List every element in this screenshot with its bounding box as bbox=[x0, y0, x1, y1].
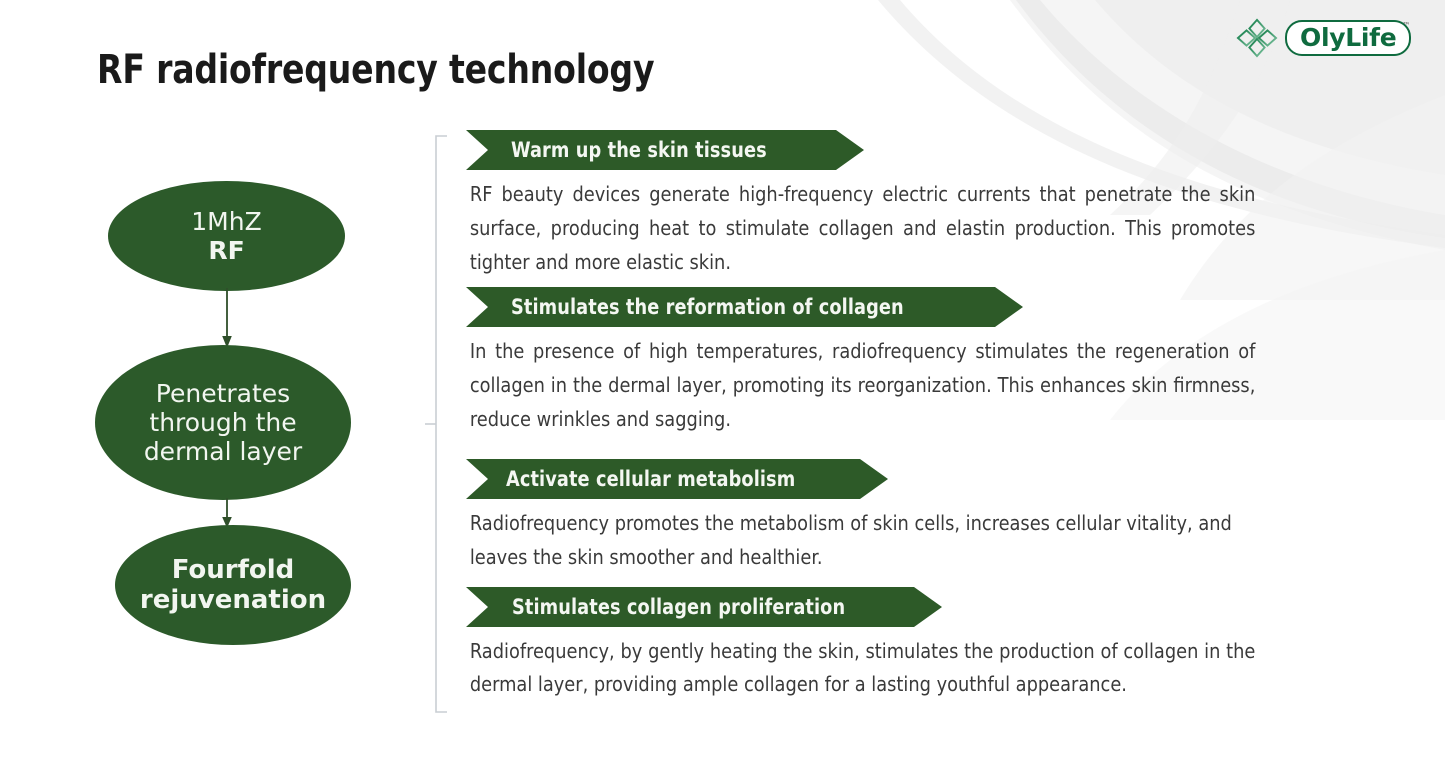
section-body-text: Radiofrequency promotes the metabolism o… bbox=[466, 503, 1255, 575]
section-reformation-collagen: Stimulates the reformation of collagen I… bbox=[466, 287, 1284, 436]
section-banner: Stimulates collagen proliferation bbox=[466, 587, 1284, 627]
section-banner: Warm up the skin tissues bbox=[466, 130, 1284, 170]
down-arrow-icon bbox=[220, 288, 234, 350]
section-body-text: In the presence of high temperatures, ra… bbox=[466, 331, 1255, 436]
flow-node-2-line-1: Penetrates bbox=[156, 379, 290, 408]
section-banner-label: Warm up the skin tissues bbox=[511, 138, 767, 162]
section-banner-label: Activate cellular metabolism bbox=[506, 467, 795, 491]
section-banner: Activate cellular metabolism bbox=[466, 459, 1284, 499]
flow-node-3-line-1: Fourfold bbox=[172, 555, 295, 585]
flow-node-3: Fourfold rejuvenation bbox=[115, 525, 351, 645]
flow-node-2-line-3: dermal layer bbox=[144, 437, 302, 466]
section-spacer bbox=[466, 437, 1284, 459]
flow-diagram: 1MhZ RF Penetrates through the dermal la… bbox=[80, 160, 380, 660]
slide-canvas: OlyLife ™ RF radiofrequency technology 1… bbox=[0, 0, 1445, 784]
section-warm-up: Warm up the skin tissues RF beauty devic… bbox=[466, 130, 1284, 279]
section-collagen-proliferation: Stimulates collagen proliferation Radiof… bbox=[466, 587, 1284, 703]
brand-logo: OlyLife ™ bbox=[1236, 18, 1410, 58]
flow-node-1-line-2: RF bbox=[208, 236, 244, 265]
flow-node-2: Penetrates through the dermal layer bbox=[95, 345, 351, 500]
flow-node-1-line-1: 1MhZ bbox=[191, 207, 261, 236]
section-cellular-metabolism: Activate cellular metabolism Radiofreque… bbox=[466, 459, 1284, 575]
section-banner-label: Stimulates collagen proliferation bbox=[512, 595, 845, 619]
page-title: RF radiofrequency technology bbox=[97, 48, 654, 92]
four-diamond-clover-icon bbox=[1236, 18, 1278, 58]
logo-wordmark: OlyLife ™ bbox=[1285, 20, 1410, 56]
section-banner: Stimulates the reformation of collagen bbox=[466, 287, 1284, 327]
section-body-text: RF beauty devices generate high-frequenc… bbox=[466, 174, 1255, 279]
section-banner-label: Stimulates the reformation of collagen bbox=[511, 295, 904, 319]
trademark-symbol: ™ bbox=[1402, 21, 1410, 30]
section-spacer bbox=[466, 575, 1284, 587]
left-bracket-connector bbox=[425, 135, 449, 713]
flow-node-2-line-2: through the bbox=[149, 408, 296, 437]
flow-node-3-line-2: rejuvenation bbox=[140, 585, 326, 615]
logo-text: OlyLife bbox=[1285, 20, 1411, 56]
section-body-text: Radiofrequency, by gently heating the sk… bbox=[466, 631, 1255, 703]
section-spacer bbox=[466, 279, 1284, 287]
flow-node-1: 1MhZ RF bbox=[108, 181, 345, 291]
sections-list: Warm up the skin tissues RF beauty devic… bbox=[466, 130, 1284, 702]
